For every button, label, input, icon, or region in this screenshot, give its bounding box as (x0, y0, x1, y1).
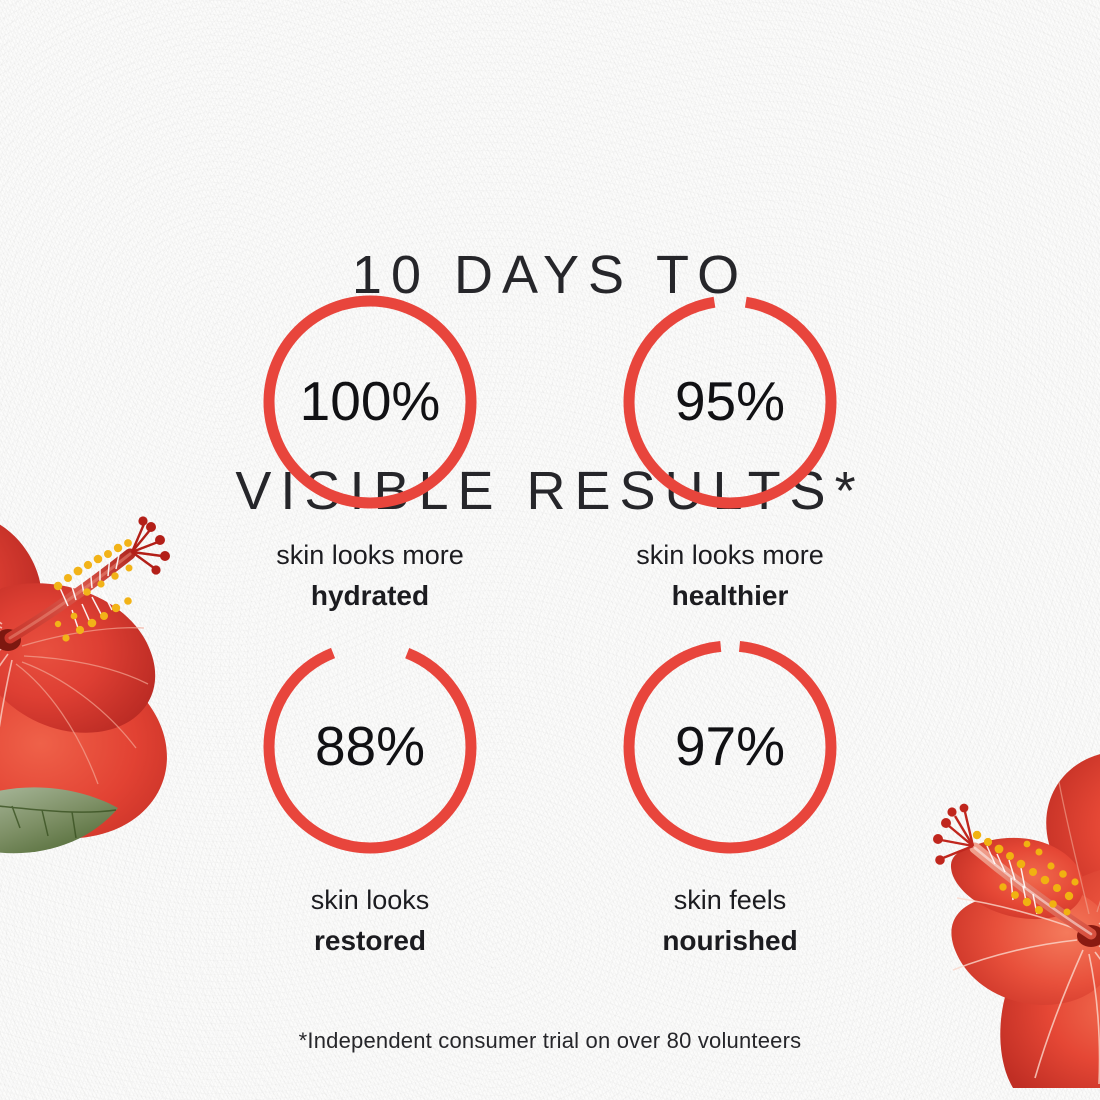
stat-caption-bottom-restored: restored (311, 922, 430, 961)
stat-caption-nourished: skin feels nourished (662, 882, 797, 961)
stat-card-hydrated: 100% skin looks more hydrated (190, 295, 550, 640)
stat-value-healthier: 95% (623, 295, 837, 509)
results-infographic: 10 DAYS TO VISIBLE RESULTS* 100% skin lo… (0, 0, 1100, 1100)
progress-ring-hydrated: 100% (263, 295, 477, 509)
stat-value-hydrated: 100% (263, 295, 477, 509)
stat-caption-restored: skin looks restored (311, 882, 430, 961)
footnote-disclaimer: *Independent consumer trial on over 80 v… (0, 1028, 1100, 1054)
stat-caption-hydrated: skin looks more hydrated (276, 537, 464, 616)
progress-ring-healthier: 95% (623, 295, 837, 509)
stat-caption-top-healthier: skin looks more (636, 537, 824, 574)
stat-card-nourished: 97% skin feels nourished (550, 640, 910, 985)
stat-caption-top-restored: skin looks (311, 882, 430, 919)
stat-caption-top-hydrated: skin looks more (276, 537, 464, 574)
progress-ring-restored: 88% (263, 640, 477, 854)
stat-caption-bottom-healthier: healthier (636, 577, 824, 616)
stats-grid: 100% skin looks more hydrated 95% skin l… (190, 295, 910, 985)
stat-card-restored: 88% skin looks restored (190, 640, 550, 985)
stat-caption-healthier: skin looks more healthier (636, 537, 824, 616)
stat-caption-top-nourished: skin feels (662, 882, 797, 919)
stat-value-nourished: 97% (623, 640, 837, 854)
stat-card-healthier: 95% skin looks more healthier (550, 295, 910, 640)
stat-caption-bottom-hydrated: hydrated (276, 577, 464, 616)
stat-caption-bottom-nourished: nourished (662, 922, 797, 961)
progress-ring-nourished: 97% (623, 640, 837, 854)
stat-value-restored: 88% (263, 640, 477, 854)
